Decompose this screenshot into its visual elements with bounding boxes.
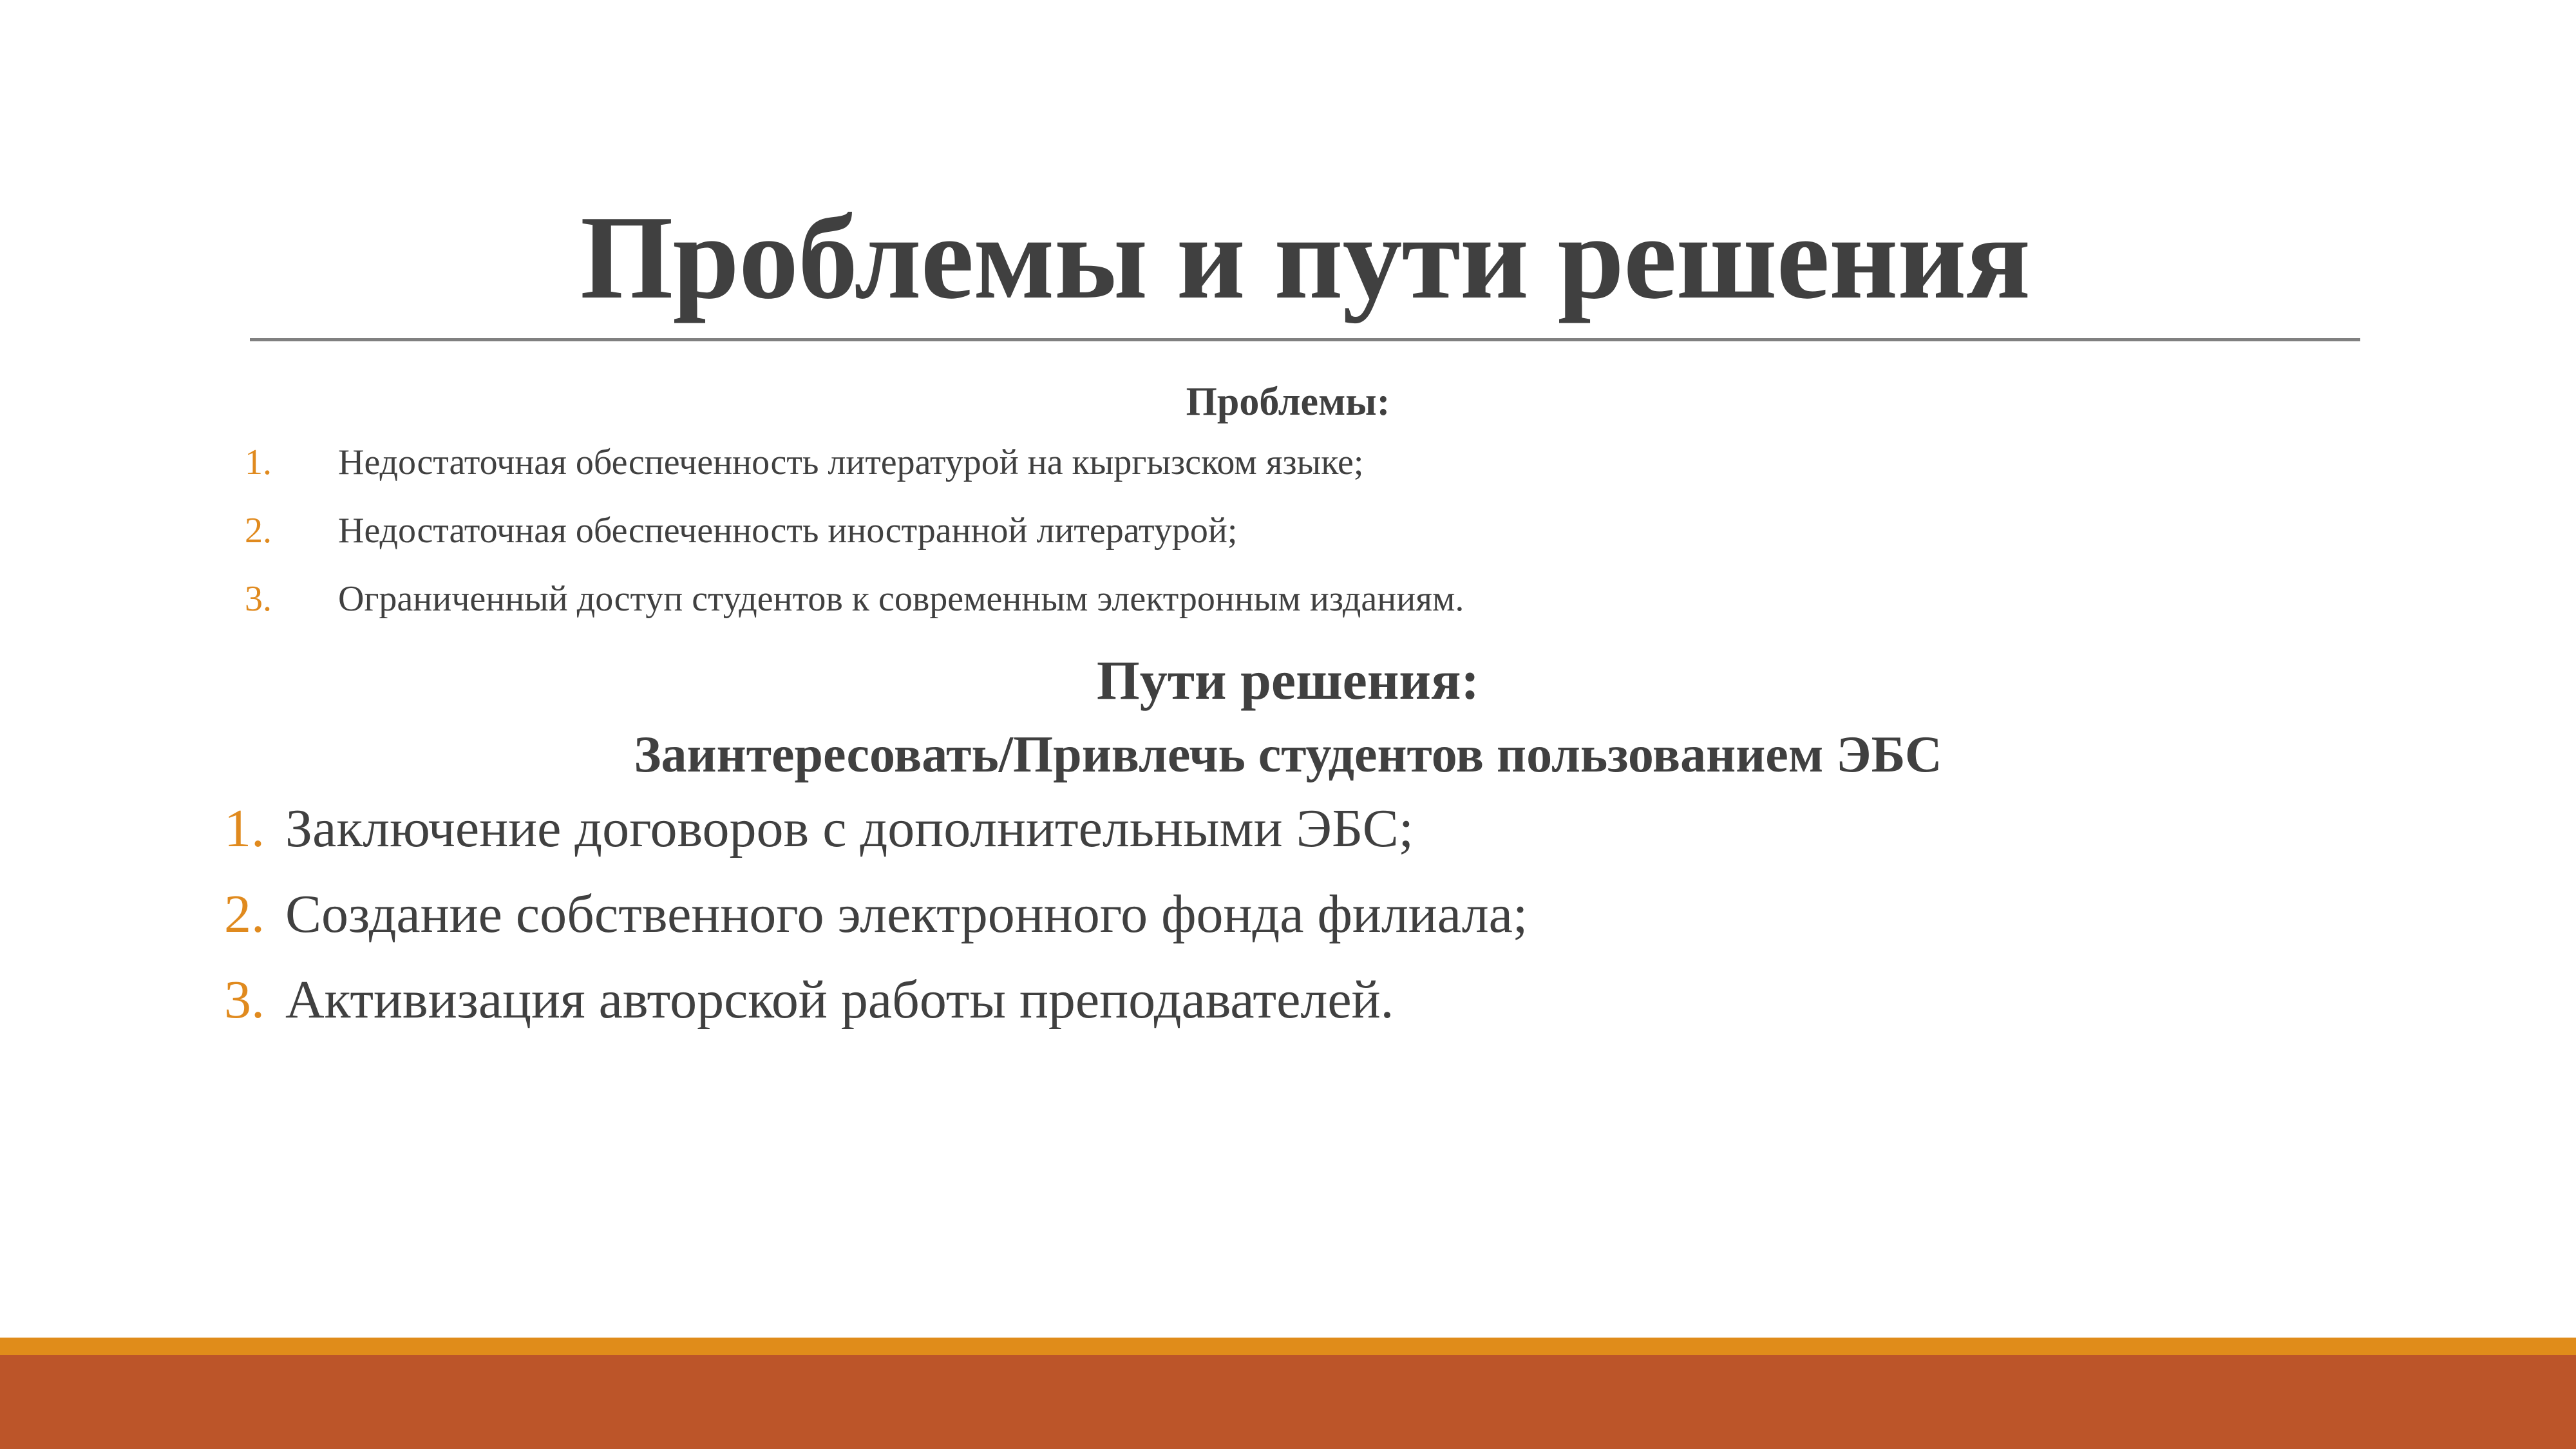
slide-body: Проблемы: 1. Недостаточная обеспеченност… (0, 377, 2576, 1054)
solutions-list: 1. Заключение договоров с дополнительным… (0, 797, 2576, 1031)
list-item-number: 1. (224, 797, 285, 860)
list-item-text: Создание собственного электронного фонда… (285, 883, 1528, 945)
problems-heading: Проблемы: (0, 377, 2576, 428)
list-item-number: 2. (245, 510, 338, 551)
slide-title-block: Проблемы и пути решения (250, 193, 2360, 341)
list-item: 3. Активизация авторской работы преподав… (0, 969, 2576, 1031)
list-item: 1. Заключение договоров с дополнительным… (0, 797, 2576, 860)
list-item: 2. Создание собственного электронного фо… (0, 883, 2576, 945)
solutions-lead-line: Заинтересовать/Привлечь студентов пользо… (0, 721, 2576, 788)
title-divider (250, 338, 2360, 341)
solutions-heading: Пути решения: (0, 647, 2576, 714)
presentation-slide: Проблемы и пути решения Проблемы: 1. Нед… (0, 0, 2576, 1449)
list-item-text: Активизация авторской работы преподавате… (285, 969, 1394, 1031)
list-item: 2. Недостаточная обеспеченность иностран… (0, 510, 2576, 551)
footer-accent-bar-orange (0, 1338, 2576, 1355)
list-item-number: 2. (224, 883, 285, 945)
list-item-text: Заключение договоров с дополнительными Э… (285, 797, 1414, 860)
page-title: Проблемы и пути решения (250, 193, 2360, 323)
list-item-number: 1. (245, 442, 338, 483)
list-item: 1. Недостаточная обеспеченность литерату… (0, 442, 2576, 483)
list-item: 3. Ограниченный доступ студентов к совре… (0, 578, 2576, 620)
list-item-number: 3. (245, 578, 338, 620)
list-item-number: 3. (224, 969, 285, 1031)
problems-list: 1. Недостаточная обеспеченность литерату… (0, 442, 2576, 620)
list-item-text: Недостаточная обеспеченность литературой… (338, 442, 1363, 483)
footer-accent-bar-terracotta (0, 1355, 2576, 1449)
list-item-text: Ограниченный доступ студентов к современ… (338, 578, 1464, 620)
list-item-text: Недостаточная обеспеченность иностранной… (338, 510, 1237, 551)
